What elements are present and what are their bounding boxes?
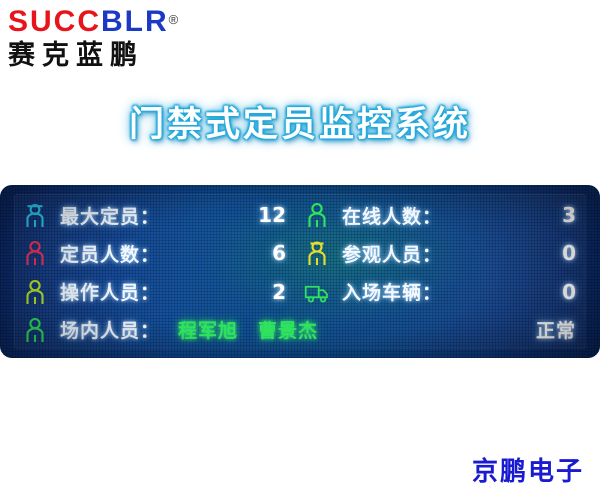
led-value: 0 (562, 280, 582, 304)
led-value: 6 (272, 241, 304, 265)
logo-text-blr: BLR (101, 5, 169, 38)
led-rows-container: 最大定员： 12 在线人数： 3 (22, 198, 582, 347)
led-cell-online-count: 在线人数： 3 (304, 198, 582, 232)
registered-trademark-icon: ® (169, 4, 181, 36)
led-label: 场内人员： (60, 316, 160, 343)
led-cell-visitors: 参观人员： 0 (304, 236, 582, 270)
led-label: 入场车辆： (342, 278, 442, 305)
person-icon (22, 278, 48, 306)
led-value: 3 (562, 203, 582, 227)
led-label: 在线人数： (342, 202, 442, 229)
logo-chinese-text: 赛克蓝鹏 (8, 39, 238, 73)
logo-text-succ: SUCC (8, 5, 101, 38)
status-badge: 正常 (536, 316, 582, 343)
led-display-panel: 最大定员： 12 在线人数： 3 (0, 185, 600, 358)
personnel-name: 曹景杰 (258, 316, 318, 343)
led-label: 定员人数： (60, 240, 160, 267)
led-row: 操作人员： 2 入场车辆： 0 (22, 275, 582, 309)
footer-brand-text: 京鹏电子 (472, 451, 584, 488)
truck-icon (304, 278, 330, 306)
led-cell-assigned-count: 定员人数： 6 (22, 236, 304, 270)
led-cell-vehicles-entered: 入场车辆： 0 (304, 275, 582, 309)
person-icon (22, 239, 48, 267)
led-row-onsite-personnel: 场内人员： 程军旭 曹景杰 正常 (22, 313, 582, 347)
led-value: 2 (272, 280, 304, 304)
led-value: 0 (562, 241, 582, 265)
personnel-name: 程军旭 (178, 316, 238, 343)
led-label: 参观人员： (342, 240, 442, 267)
person-helmet-icon (304, 239, 330, 267)
person-icon (22, 316, 48, 344)
led-cell-operators: 操作人员： 2 (22, 275, 304, 309)
led-cell-max-capacity: 最大定员： 12 (22, 198, 304, 232)
onsite-personnel-names: 程军旭 曹景杰 (178, 316, 318, 343)
person-hat-icon (22, 201, 48, 229)
led-value: 12 (258, 203, 304, 227)
company-logo: SUCCBLR® 赛克蓝鹏 (8, 6, 238, 76)
led-label: 最大定员： (60, 202, 160, 229)
led-row: 定员人数： 6 参观人员： 0 (22, 236, 582, 270)
page-title: 门禁式定员监控系统 (0, 96, 600, 147)
led-label: 操作人员： (60, 278, 160, 305)
person-icon (304, 201, 330, 229)
led-row: 最大定员： 12 在线人数： 3 (22, 198, 582, 232)
logo-latin-text: SUCCBLR® (8, 6, 238, 38)
